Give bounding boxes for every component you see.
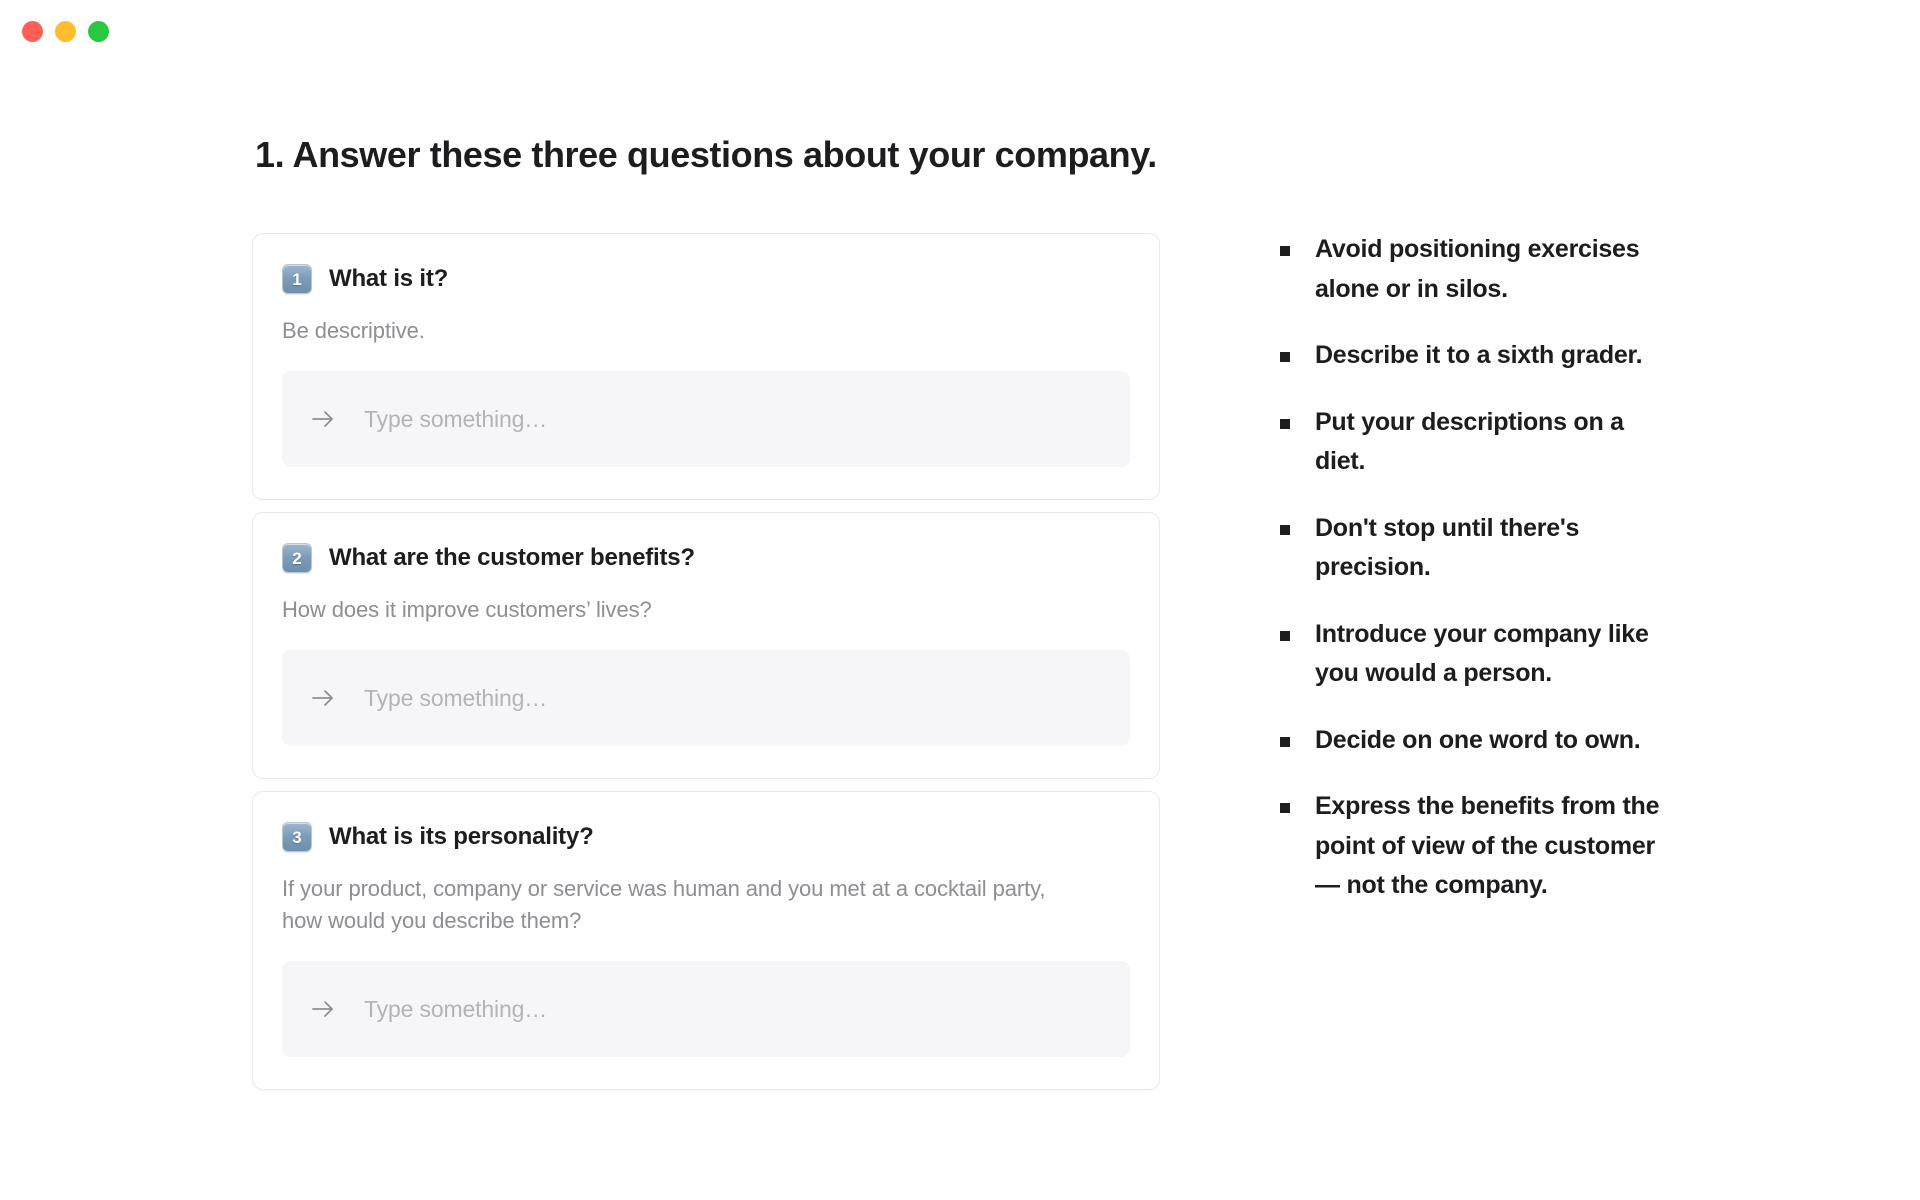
question-card: 1 What is it? Be descriptive. Type somet…: [252, 233, 1160, 500]
square-bullet-icon: [1280, 737, 1290, 747]
question-title: What is it?: [329, 265, 448, 293]
square-bullet-icon: [1280, 803, 1290, 813]
answer-input[interactable]: Type something…: [282, 650, 1130, 746]
arrow-right-icon: [310, 685, 336, 711]
keycap-number-icon: 1: [282, 264, 312, 294]
answer-input-placeholder: Type something…: [364, 685, 547, 712]
keycap-number-icon: 2: [282, 543, 312, 573]
list-item: Introduce your company like you would a …: [1280, 615, 1680, 694]
tip-text: Decide on one word to own.: [1315, 721, 1640, 761]
list-item: Don't stop until there's precision.: [1280, 509, 1680, 588]
answer-input[interactable]: Type something…: [282, 371, 1130, 467]
keycap-number-icon: 3: [282, 822, 312, 852]
square-bullet-icon: [1280, 352, 1290, 362]
question-description: How does it improve customers’ lives?: [282, 594, 1072, 626]
tip-text: Don't stop until there's precision.: [1315, 509, 1680, 588]
list-item: Avoid positioning exercises alone or in …: [1280, 230, 1680, 309]
minimize-window-button[interactable]: [55, 21, 76, 42]
question-header: 1 What is it?: [282, 264, 1130, 294]
question-header: 2 What are the customer benefits?: [282, 543, 1130, 573]
list-item: Put your descriptions on a diet.: [1280, 403, 1680, 482]
window-title-bar: [0, 0, 1920, 62]
list-item: Decide on one word to own.: [1280, 721, 1680, 761]
question-card: 2 What are the customer benefits? How do…: [252, 512, 1160, 779]
list-item: Describe it to a sixth grader.: [1280, 336, 1680, 376]
tip-text: Put your descriptions on a diet.: [1315, 403, 1680, 482]
answer-input[interactable]: Type something…: [282, 961, 1130, 1057]
close-window-button[interactable]: [22, 21, 43, 42]
tip-text: Introduce your company like you would a …: [1315, 615, 1680, 694]
tip-text: Express the benefits from the point of v…: [1315, 787, 1680, 906]
question-description: Be descriptive.: [282, 315, 1072, 347]
answer-input-placeholder: Type something…: [364, 406, 547, 433]
square-bullet-icon: [1280, 246, 1290, 256]
content-columns: 1 What is it? Be descriptive. Type somet…: [0, 62, 1920, 1200]
question-card: 3 What is its personality? If your produ…: [252, 791, 1160, 1090]
question-header: 3 What is its personality?: [282, 822, 1130, 852]
question-title: What is its personality?: [329, 823, 594, 851]
square-bullet-icon: [1280, 631, 1290, 641]
question-title: What are the customer benefits?: [329, 544, 695, 572]
traffic-lights: [22, 21, 109, 42]
list-item: Express the benefits from the point of v…: [1280, 787, 1680, 906]
questions-list: 1 What is it? Be descriptive. Type somet…: [252, 233, 1160, 1102]
square-bullet-icon: [1280, 419, 1290, 429]
tips-list: Avoid positioning exercises alone or in …: [1280, 230, 1680, 933]
question-description: If your product, company or service was …: [282, 873, 1072, 937]
maximize-window-button[interactable]: [88, 21, 109, 42]
answer-input-placeholder: Type something…: [364, 996, 547, 1023]
square-bullet-icon: [1280, 525, 1290, 535]
tip-text: Describe it to a sixth grader.: [1315, 336, 1642, 376]
page-body: 1. Answer these three questions about yo…: [0, 62, 1920, 1200]
arrow-right-icon: [310, 406, 336, 432]
tip-text: Avoid positioning exercises alone or in …: [1315, 230, 1680, 309]
arrow-right-icon: [310, 996, 336, 1022]
